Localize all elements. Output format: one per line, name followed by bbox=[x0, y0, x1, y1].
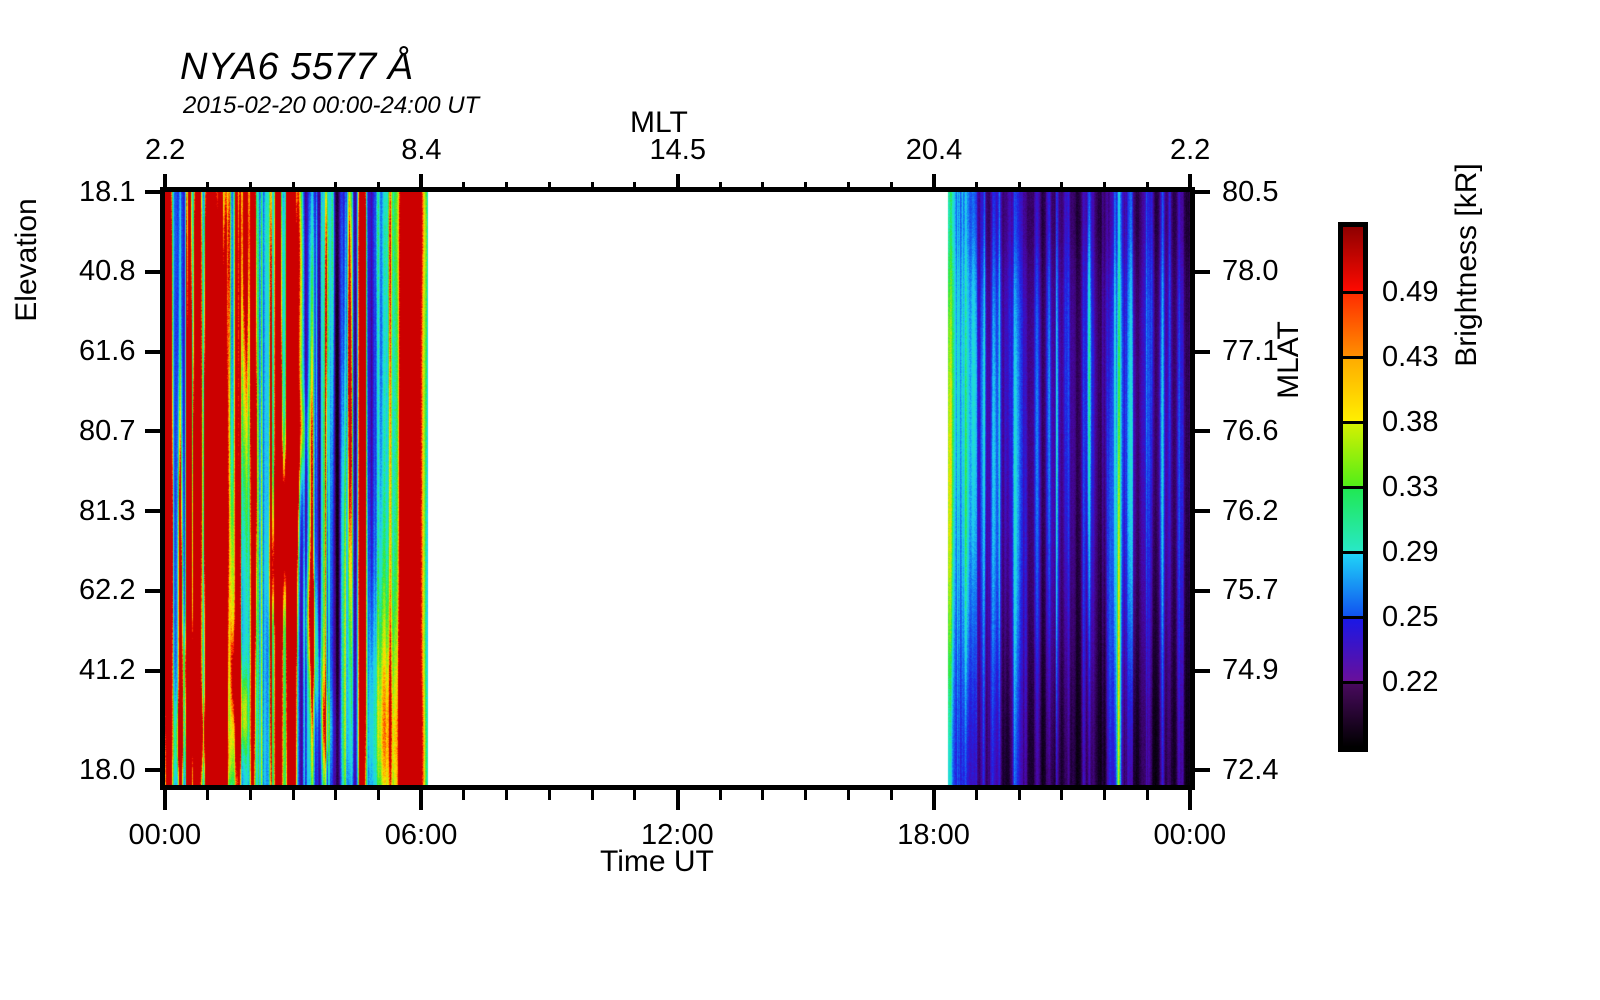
mlat-tick-label: 75.7 bbox=[1222, 574, 1278, 607]
mlt-tick-minor bbox=[591, 182, 594, 192]
elevation-tick-label: 41.2 bbox=[79, 654, 135, 687]
x-tick-label: 00:00 bbox=[129, 819, 202, 852]
mlt-tick-minor bbox=[1146, 182, 1149, 192]
colorbar-tick-label: 0.38 bbox=[1382, 406, 1438, 439]
colorbar-tick-label: 0.49 bbox=[1382, 276, 1438, 309]
mlt-tick-minor bbox=[1060, 182, 1063, 192]
x-tick-minor bbox=[591, 788, 594, 800]
colorbar-tick-label: 0.33 bbox=[1382, 471, 1438, 504]
colorbar-band-separator bbox=[1343, 681, 1363, 684]
mlat-tick-label: 80.5 bbox=[1222, 176, 1278, 209]
x-tick-label: 18:00 bbox=[897, 819, 970, 852]
mlt-tick-major bbox=[419, 174, 423, 192]
elevation-tick-label: 62.2 bbox=[79, 574, 135, 607]
colorbar-band bbox=[1343, 617, 1363, 682]
mlt-tick-minor bbox=[804, 182, 807, 192]
elevation-tick bbox=[145, 190, 165, 194]
x-tick-minor bbox=[1146, 788, 1149, 800]
x-tick-minor bbox=[206, 788, 209, 800]
mlat-tick-label: 74.9 bbox=[1222, 654, 1278, 687]
colorbar-band bbox=[1343, 422, 1363, 487]
mlat-tick bbox=[1190, 429, 1210, 433]
colorbar-band-separator bbox=[1343, 356, 1363, 359]
x-tick-label: 00:00 bbox=[1154, 819, 1227, 852]
x-tick-minor bbox=[1060, 788, 1063, 800]
mlt-tick-minor bbox=[462, 182, 465, 192]
colorbar-band-separator bbox=[1343, 486, 1363, 489]
colorbar-band bbox=[1343, 487, 1363, 552]
elevation-tick-label: 61.6 bbox=[79, 335, 135, 368]
colorbar-band-separator bbox=[1343, 291, 1363, 294]
mlat-tick bbox=[1190, 589, 1210, 593]
x-tick-minor bbox=[761, 788, 764, 800]
elevation-tick bbox=[145, 669, 165, 673]
mlt-tick-minor bbox=[847, 182, 850, 192]
page-subtitle: 2015-02-20 00:00-24:00 UT bbox=[183, 92, 479, 120]
elevation-tick bbox=[145, 429, 165, 433]
x-tick-minor bbox=[505, 788, 508, 800]
keogram-plot-area[interactable] bbox=[165, 192, 1190, 785]
mlat-tick-label: 72.4 bbox=[1222, 754, 1278, 787]
mlt-tick-major bbox=[676, 174, 680, 192]
mlt-tick-minor bbox=[633, 182, 636, 192]
colorbar-band bbox=[1343, 357, 1363, 422]
mlat-tick-label: 76.2 bbox=[1222, 495, 1278, 528]
x-tick-label: 06:00 bbox=[385, 819, 458, 852]
x-tick-major bbox=[676, 788, 680, 810]
x-tick-minor bbox=[462, 788, 465, 800]
mlat-tick-label: 78.0 bbox=[1222, 255, 1278, 288]
colorbar-band bbox=[1343, 292, 1363, 357]
mlat-tick-label: 77.1 bbox=[1222, 335, 1278, 368]
colorbar-band-separator bbox=[1343, 551, 1363, 554]
page-title: NYA6 5577 Å bbox=[180, 46, 414, 89]
mlt-tick-minor bbox=[1103, 182, 1106, 192]
mlt-tick-label: 2.2 bbox=[145, 134, 185, 167]
mlt-tick-minor bbox=[761, 182, 764, 192]
x-tick-minor bbox=[548, 788, 551, 800]
elevation-tick-label: 80.7 bbox=[79, 415, 135, 448]
x-tick-minor bbox=[633, 788, 636, 800]
mlt-tick-label: 20.4 bbox=[906, 134, 962, 167]
elevation-tick-label: 40.8 bbox=[79, 255, 135, 288]
y-axis-title-elevation: Elevation bbox=[10, 140, 44, 380]
x-tick-minor bbox=[292, 788, 295, 800]
mlt-tick-minor bbox=[505, 182, 508, 192]
mlt-tick-minor bbox=[206, 182, 209, 192]
mlat-tick bbox=[1190, 768, 1210, 772]
elevation-tick-label: 81.3 bbox=[79, 495, 135, 528]
mlt-tick-minor bbox=[1018, 182, 1021, 192]
x-tick-minor bbox=[1103, 788, 1106, 800]
colorbar-tick-label: 0.29 bbox=[1382, 536, 1438, 569]
elevation-tick-label: 18.0 bbox=[79, 754, 135, 787]
x-tick-minor bbox=[890, 788, 893, 800]
x-tick-major bbox=[932, 788, 936, 810]
mlat-tick bbox=[1190, 270, 1210, 274]
colorbar[interactable] bbox=[1338, 222, 1368, 752]
mlt-tick-minor bbox=[890, 182, 893, 192]
colorbar-title: Brightness [kR] bbox=[1450, 145, 1484, 385]
x-tick-minor bbox=[1018, 788, 1021, 800]
x-tick-major bbox=[1188, 788, 1192, 810]
colorbar-band bbox=[1343, 682, 1363, 747]
x-tick-minor bbox=[719, 788, 722, 800]
mlat-tick bbox=[1190, 509, 1210, 513]
mlt-tick-label: 8.4 bbox=[401, 134, 441, 167]
mlt-tick-label: 2.2 bbox=[1170, 134, 1210, 167]
x-tick-label: 12:00 bbox=[641, 819, 714, 852]
elevation-tick bbox=[145, 270, 165, 274]
colorbar-tick-label: 0.22 bbox=[1382, 666, 1438, 699]
colorbar-tick-label: 0.25 bbox=[1382, 601, 1438, 634]
mlat-tick bbox=[1190, 669, 1210, 673]
elevation-tick bbox=[145, 350, 165, 354]
mlat-tick bbox=[1190, 190, 1210, 194]
elevation-tick-label: 18.1 bbox=[79, 176, 135, 209]
colorbar-tick-label: 0.43 bbox=[1382, 341, 1438, 374]
mlt-tick-minor bbox=[292, 182, 295, 192]
elevation-tick bbox=[145, 589, 165, 593]
mlat-tick bbox=[1190, 350, 1210, 354]
colorbar-band-separator bbox=[1343, 421, 1363, 424]
elevation-tick bbox=[145, 768, 165, 772]
mlt-tick-minor bbox=[975, 182, 978, 192]
mlt-tick-major bbox=[932, 174, 936, 192]
keogram-image bbox=[165, 192, 1190, 785]
colorbar-band bbox=[1343, 552, 1363, 617]
x-tick-minor bbox=[975, 788, 978, 800]
x-tick-major bbox=[419, 788, 423, 810]
x-tick-minor bbox=[377, 788, 380, 800]
mlt-tick-minor bbox=[548, 182, 551, 192]
mlt-tick-label: 14.5 bbox=[650, 134, 706, 167]
x-tick-minor bbox=[804, 788, 807, 800]
x-tick-minor bbox=[334, 788, 337, 800]
mlt-tick-minor bbox=[249, 182, 252, 192]
mlat-tick-label: 76.6 bbox=[1222, 415, 1278, 448]
colorbar-band bbox=[1343, 227, 1363, 292]
x-tick-major bbox=[163, 788, 167, 810]
x-tick-minor bbox=[249, 788, 252, 800]
mlt-tick-minor bbox=[334, 182, 337, 192]
mlt-tick-minor bbox=[377, 182, 380, 192]
colorbar-band-separator bbox=[1343, 616, 1363, 619]
mlt-tick-minor bbox=[719, 182, 722, 192]
x-tick-minor bbox=[847, 788, 850, 800]
elevation-tick bbox=[145, 509, 165, 513]
